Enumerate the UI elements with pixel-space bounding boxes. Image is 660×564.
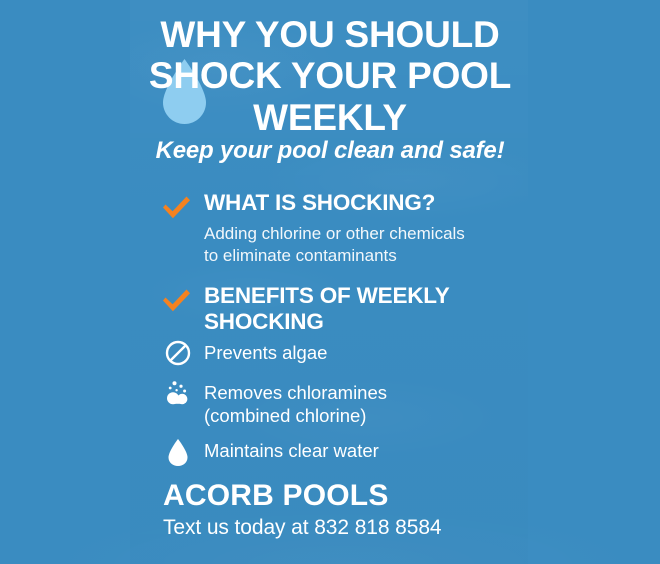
benefit-line-1: Prevents algae bbox=[204, 342, 327, 365]
orange-checkmark-icon bbox=[160, 193, 192, 221]
bubbles-foam-icon bbox=[163, 380, 193, 410]
page-subtitle: Keep your pool clean and safe! bbox=[130, 137, 530, 165]
headline-line-1: WHY YOU SHOULD bbox=[130, 14, 530, 55]
section-header-row: WHAT IS SHOCKING? bbox=[160, 190, 465, 221]
no-entry-prohibited-icon bbox=[163, 340, 193, 370]
contact-line: Text us today at 832 818 8584 bbox=[163, 516, 441, 540]
brand-name: ACORB POOLS bbox=[163, 479, 389, 513]
section-title: WHAT IS SHOCKING? bbox=[204, 190, 435, 216]
section-header-row: BENEFITS OF WEEKLY SHOCKING bbox=[160, 283, 450, 336]
benefit-line-1: Maintains clear water bbox=[204, 440, 379, 463]
section-body: Adding chlorine or other chemicals to el… bbox=[204, 223, 465, 267]
benefit-line-1: Removes chloramines bbox=[204, 382, 387, 405]
section-body-line-2: to eliminate contaminants bbox=[204, 245, 465, 267]
section-title-line-1: BENEFITS OF WEEKLY bbox=[204, 283, 450, 309]
list-item: Prevents algae bbox=[163, 340, 503, 370]
benefits-list: Prevents algae bbox=[163, 340, 503, 478]
page-title: WHY YOU SHOULD SHOCK YOUR POOL WEEKLY bbox=[130, 14, 530, 138]
poster-infographic: WHY YOU SHOULD SHOCK YOUR POOL WEEKLY Ke… bbox=[0, 0, 660, 564]
section-title: BENEFITS OF WEEKLY SHOCKING bbox=[204, 283, 450, 336]
orange-checkmark-icon bbox=[160, 286, 192, 314]
section-title-line-1: WHAT IS SHOCKING? bbox=[204, 190, 435, 216]
headline-line-3: WEEKLY bbox=[130, 97, 530, 138]
list-item: Maintains clear water bbox=[163, 438, 503, 468]
water-droplet-icon bbox=[163, 438, 193, 468]
headline-line-2: SHOCK YOUR POOL bbox=[130, 55, 530, 96]
list-item-label: Removes chloramines (combined chlorine) bbox=[204, 380, 387, 428]
section-body-line-1: Adding chlorine or other chemicals bbox=[204, 223, 465, 245]
benefit-line-2: (combined chlorine) bbox=[204, 405, 387, 428]
section-what-is-shocking: WHAT IS SHOCKING? Adding chlorine or oth… bbox=[160, 190, 465, 267]
list-item: Removes chloramines (combined chlorine) bbox=[163, 380, 503, 428]
list-item-label: Maintains clear water bbox=[204, 438, 379, 463]
section-title-line-2: SHOCKING bbox=[204, 309, 450, 335]
list-item-label: Prevents algae bbox=[204, 340, 327, 365]
section-benefits-of-weekly-shocking: BENEFITS OF WEEKLY SHOCKING bbox=[160, 283, 450, 336]
